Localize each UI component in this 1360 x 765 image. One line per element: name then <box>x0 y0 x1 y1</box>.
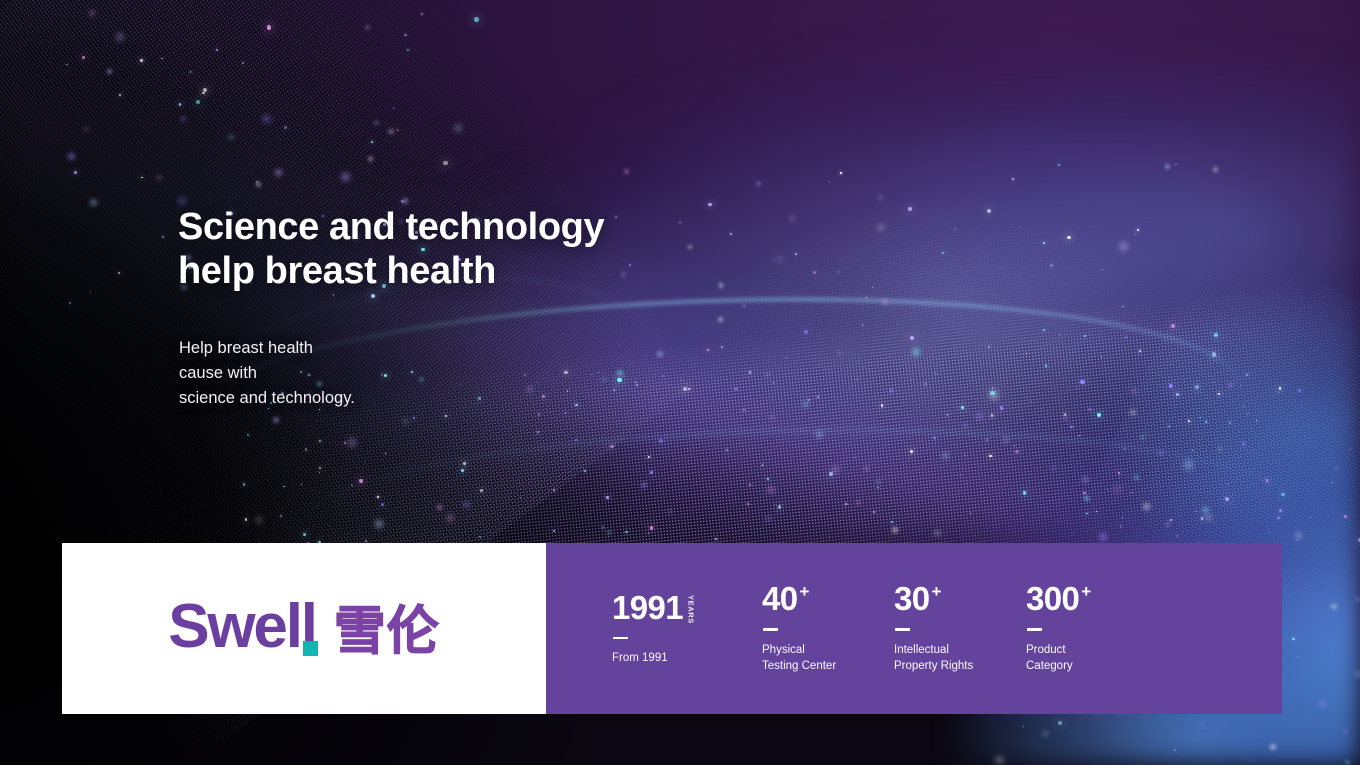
bokeh-particle <box>1228 383 1233 388</box>
bokeh-particle <box>641 482 647 488</box>
stat-value: 30+ <box>894 582 1026 615</box>
bokeh-particle <box>657 351 663 357</box>
bokeh-particle <box>388 129 394 135</box>
bokeh-particle <box>446 514 453 521</box>
bokeh-particle <box>1000 406 1004 410</box>
bokeh-particle <box>262 115 271 124</box>
stat-number: 300 <box>1026 582 1079 615</box>
bokeh-particle <box>1199 721 1206 728</box>
bokeh-particle <box>359 479 363 483</box>
bokeh-particle <box>629 264 631 266</box>
bokeh-particle <box>1079 435 1080 436</box>
stat-plus-sign: + <box>932 583 941 600</box>
bokeh-particle <box>1042 730 1049 737</box>
bokeh-particle <box>1169 384 1173 388</box>
bokeh-particle <box>858 361 859 362</box>
bokeh-particle <box>1355 670 1360 677</box>
bokeh-particle <box>881 404 884 407</box>
bokeh-particle <box>275 169 282 176</box>
bokeh-particle <box>1201 517 1204 520</box>
bokeh-particle <box>375 520 383 528</box>
bokeh-particle <box>1064 413 1066 415</box>
bokeh-particle <box>663 375 664 376</box>
stat-number: 40 <box>762 582 798 615</box>
bokeh-particle <box>1331 604 1337 610</box>
bokeh-particle <box>1199 417 1200 418</box>
bokeh-particle <box>341 173 350 182</box>
stat-item: 1991YEARSFrom 1991 <box>612 591 762 667</box>
bokeh-particle <box>1195 385 1199 389</box>
bokeh-particle <box>402 418 409 425</box>
bokeh-particle <box>976 413 983 420</box>
brand-wordmark: Swell <box>168 596 316 658</box>
stat-divider <box>613 637 628 640</box>
bokeh-particle <box>419 377 424 382</box>
bokeh-particle <box>864 466 869 471</box>
stat-item: 300+Product Category <box>1026 582 1158 674</box>
bokeh-particle <box>1107 489 1108 490</box>
bokeh-particle <box>1144 492 1145 493</box>
bokeh-particle <box>1165 522 1170 527</box>
bokeh-particle <box>156 175 162 181</box>
bokeh-particle <box>564 371 567 374</box>
bokeh-particle <box>767 486 775 494</box>
bokeh-particle <box>990 391 994 395</box>
bokeh-particle <box>243 483 245 485</box>
bokeh-particle <box>765 372 770 377</box>
stat-plus-sign: + <box>800 583 809 600</box>
bokeh-particle <box>634 381 637 384</box>
bokeh-particle <box>911 379 912 380</box>
bokeh-particle <box>908 207 912 211</box>
bokeh-particle <box>162 236 164 238</box>
bokeh-particle <box>1023 726 1024 727</box>
bokeh-particle <box>735 388 737 390</box>
bokeh-particle <box>862 324 863 325</box>
bokeh-particle <box>1058 721 1062 725</box>
bokeh-particle <box>478 397 481 400</box>
bokeh-particle <box>1058 164 1060 166</box>
bokeh-particle <box>474 17 478 21</box>
bokeh-particle <box>1080 380 1084 384</box>
bokeh-particle <box>1086 513 1088 515</box>
bokeh-particle <box>808 399 810 401</box>
bokeh-particle <box>1012 178 1014 180</box>
bokeh-particle <box>856 500 861 505</box>
bokeh-particle <box>804 330 808 334</box>
bokeh-particle <box>1218 447 1223 452</box>
bokeh-particle <box>368 156 373 161</box>
bokeh-particle <box>180 116 186 122</box>
bokeh-particle <box>767 478 769 480</box>
bokeh-particle <box>743 305 745 307</box>
bokeh-particle <box>1297 540 1298 541</box>
stat-divider <box>763 628 778 631</box>
bokeh-particle <box>840 172 842 174</box>
bokeh-particle <box>280 515 282 517</box>
bokeh-particle <box>542 395 545 398</box>
stat-unit-label: YEARS <box>687 595 695 624</box>
bokeh-particle <box>385 453 386 454</box>
bokeh-particle <box>991 414 993 416</box>
bokeh-particle <box>1205 514 1212 521</box>
bokeh-particle <box>69 302 71 304</box>
bokeh-particle <box>1240 385 1241 386</box>
bokeh-particle <box>443 161 448 166</box>
bokeh-particle <box>584 470 585 471</box>
bokeh-particle <box>303 533 306 536</box>
bokeh-particle <box>1158 450 1164 456</box>
bokeh-particle <box>743 409 745 411</box>
stat-number: 1991 <box>612 591 683 624</box>
bokeh-particle <box>319 467 321 469</box>
bokeh-particle <box>1256 420 1257 421</box>
bokeh-particle <box>1083 492 1086 495</box>
bokeh-particle <box>1135 234 1136 235</box>
bokeh-particle <box>365 25 370 30</box>
bokeh-particle <box>1171 324 1175 328</box>
bokeh-particle <box>708 203 711 206</box>
stat-plus-sign: + <box>1081 583 1090 600</box>
bokeh-particle <box>995 756 1004 765</box>
bokeh-particle <box>747 503 749 505</box>
brand-chinese-name: 雪伦 <box>334 606 440 658</box>
bokeh-particle <box>1070 426 1073 429</box>
bokeh-particle <box>463 501 470 508</box>
bokeh-particle <box>68 153 75 160</box>
bokeh-particle <box>1043 242 1045 244</box>
bokeh-particle <box>719 283 724 288</box>
bokeh-particle <box>190 71 191 72</box>
stat-number: 30 <box>894 582 930 615</box>
bokeh-particle <box>1130 410 1136 416</box>
bokeh-particle <box>1229 422 1231 424</box>
bottom-info-bar: Swell 雪伦 1991YEARSFrom 199140+Physical T… <box>62 543 1282 714</box>
bokeh-particle <box>992 387 994 389</box>
bokeh-particle <box>196 100 200 104</box>
bokeh-particle <box>1188 420 1190 422</box>
stat-divider <box>1027 628 1042 631</box>
bokeh-particle <box>404 34 407 37</box>
bokeh-particle <box>1050 264 1053 267</box>
bokeh-particle <box>615 216 617 218</box>
stat-item: 30+Intellectual Property Rights <box>894 582 1026 674</box>
bokeh-particle <box>179 103 182 106</box>
bokeh-particle <box>636 384 638 386</box>
bokeh-particle <box>606 496 609 499</box>
bokeh-particle <box>1319 700 1326 707</box>
hero-subtitle: Help breast health cause with science an… <box>179 336 355 410</box>
bokeh-particle <box>1213 382 1214 383</box>
bokeh-particle <box>829 181 830 182</box>
bokeh-particle <box>942 252 944 254</box>
bokeh-particle <box>756 181 761 186</box>
stat-label: Physical Testing Center <box>762 642 894 675</box>
bokeh-particle <box>988 346 990 348</box>
bokeh-particle <box>681 379 682 380</box>
bokeh-particle <box>829 472 833 476</box>
bokeh-particle <box>802 401 808 407</box>
stat-value: 300+ <box>1026 582 1158 615</box>
bokeh-particle <box>407 49 409 51</box>
bokeh-particle <box>1279 387 1282 390</box>
bokeh-particle <box>1295 532 1302 539</box>
page-title: Science and technology help breast healt… <box>178 205 604 294</box>
bokeh-particle <box>371 141 373 143</box>
bokeh-particle <box>610 445 614 449</box>
bokeh-particle <box>934 530 941 537</box>
logo-panel: Swell 雪伦 <box>62 543 546 714</box>
bokeh-particle <box>1281 493 1284 496</box>
slide-canvas: Science and technology help breast healt… <box>0 0 1360 765</box>
stat-divider <box>895 628 910 631</box>
stat-label: Product Category <box>1026 642 1158 675</box>
bokeh-particle <box>773 260 774 261</box>
bokeh-particle <box>877 224 884 231</box>
bokeh-particle <box>403 198 408 203</box>
bokeh-particle <box>348 438 357 447</box>
bokeh-particle <box>1014 445 1015 446</box>
bokeh-particle <box>607 530 612 535</box>
stats-panel: 1991YEARSFrom 199140+Physical Testing Ce… <box>546 543 1282 714</box>
bokeh-particle <box>625 531 628 534</box>
bokeh-particle <box>1212 352 1217 357</box>
bokeh-particle <box>463 462 466 465</box>
bokeh-particle <box>882 299 888 305</box>
bokeh-particle <box>1298 656 1299 657</box>
bokeh-particle <box>83 126 89 132</box>
bokeh-particle <box>1023 491 1027 495</box>
bokeh-particle <box>856 379 857 380</box>
stat-label: From 1991 <box>612 650 762 666</box>
bokeh-particle <box>1097 413 1101 417</box>
bokeh-particle <box>838 271 840 273</box>
bokeh-particle <box>1139 350 1141 352</box>
bokeh-particle <box>1174 749 1176 751</box>
bokeh-particle <box>305 448 307 450</box>
bokeh-particle <box>1225 497 1229 501</box>
bokeh-particle <box>650 526 654 530</box>
bokeh-particle <box>1003 437 1010 444</box>
bokeh-particle <box>1165 164 1170 169</box>
bokeh-particle <box>1084 335 1086 337</box>
bokeh-particle <box>659 439 663 443</box>
bokeh-particle <box>344 442 346 444</box>
brand-wordmark-text: Swell <box>168 592 316 661</box>
bokeh-particle <box>1349 449 1350 450</box>
stat-label: Intellectual Property Rights <box>894 642 1026 675</box>
bokeh-particle <box>247 434 249 436</box>
stat-item: 40+Physical Testing Center <box>762 582 894 674</box>
bokeh-particle <box>624 169 629 174</box>
bokeh-particle <box>679 222 680 223</box>
bokeh-particle <box>575 439 578 442</box>
bokeh-particle <box>1323 663 1324 664</box>
bokeh-particle <box>614 389 615 390</box>
bokeh-particle <box>1270 744 1276 750</box>
bokeh-particle <box>1076 388 1077 389</box>
brand-accent-square-icon <box>303 641 318 656</box>
bokeh-particle <box>726 449 728 451</box>
stat-value: 1991YEARS <box>612 591 762 624</box>
bokeh-particle <box>778 505 781 508</box>
bokeh-particle <box>1170 519 1172 521</box>
bokeh-particle <box>1120 525 1122 527</box>
bokeh-particle <box>1099 533 1107 541</box>
bokeh-particle <box>1045 365 1047 367</box>
stat-value: 40+ <box>762 582 894 615</box>
bokeh-particle <box>267 25 271 29</box>
bokeh-particle <box>524 374 526 376</box>
bokeh-particle <box>892 527 898 533</box>
bokeh-particle <box>1176 393 1179 396</box>
bokeh-particle <box>837 351 842 356</box>
bokeh-particle <box>617 370 623 376</box>
bokeh-particle <box>393 107 395 109</box>
bokeh-particle <box>1175 164 1177 166</box>
bokeh-particle <box>461 469 464 472</box>
bokeh-particle <box>283 486 284 487</box>
bokeh-particle <box>90 199 97 206</box>
bokeh-particle <box>437 505 442 510</box>
brand-logo: Swell 雪伦 <box>168 596 440 658</box>
bokeh-particle <box>1345 760 1350 765</box>
bokeh-particle <box>1131 492 1133 494</box>
bokeh-particle <box>377 496 379 498</box>
bokeh-particle <box>707 349 709 351</box>
bokeh-particle <box>786 357 787 358</box>
bokeh-particle <box>749 484 751 486</box>
bokeh-particle <box>986 439 988 441</box>
bokeh-particle <box>256 182 261 187</box>
bokeh-particle <box>1184 460 1193 469</box>
bokeh-particle <box>912 348 920 356</box>
bokeh-particle <box>650 471 653 474</box>
bokeh-particle <box>575 404 578 407</box>
bokeh-particle <box>228 134 234 140</box>
bokeh-particle <box>421 13 423 15</box>
bokeh-particle <box>591 374 592 375</box>
bokeh-particle <box>140 59 142 61</box>
bokeh-particle <box>74 171 77 174</box>
